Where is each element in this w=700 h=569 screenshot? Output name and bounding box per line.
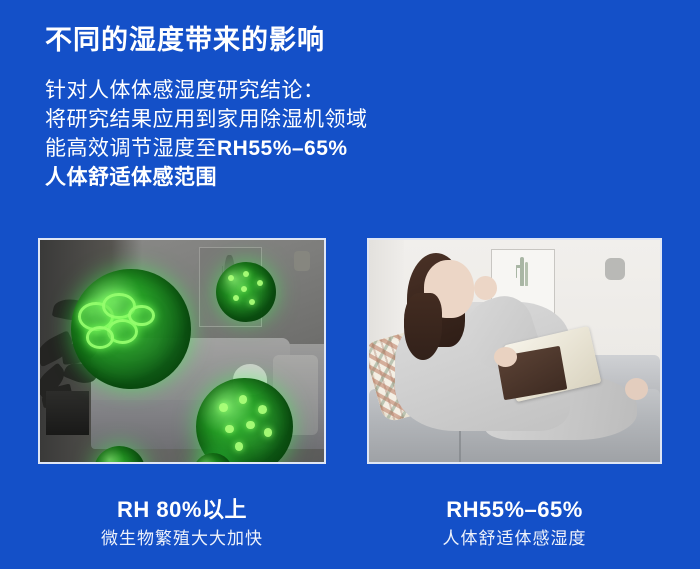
microbe-spike [225, 425, 234, 434]
microbe-spike [233, 295, 239, 301]
caption-left: RH 80%以上 微生物繁殖大大加快 [38, 496, 326, 552]
wall-speaker-icon [605, 258, 625, 280]
photo-microbes [38, 238, 326, 464]
wall-speaker-icon [294, 251, 310, 271]
infographic-page: 不同的湿度带来的影响 针对人体体感湿度研究结论： 将研究结果应用到家用除湿机领域… [0, 0, 700, 569]
person-hand [494, 347, 517, 367]
cactus-illustration [525, 262, 528, 286]
cactus-illustration [520, 257, 524, 287]
person-foot [625, 378, 648, 400]
intro-line-3: 能高效调节湿度至RH55%–65% [45, 134, 368, 163]
microbe-cell [86, 326, 115, 349]
microbe-cluster-small [216, 262, 276, 322]
intro-line-1: 针对人体体感湿度研究结论： [45, 76, 368, 105]
person-hand [474, 276, 497, 300]
caption-left-headline: RH 80%以上 [38, 496, 326, 524]
intro-paragraph: 针对人体体感湿度研究结论： 将研究结果应用到家用除湿机领域 能高效调节湿度至RH… [45, 76, 368, 192]
person-hair-strand [404, 293, 442, 360]
microbe-spike [257, 280, 263, 286]
microbe-core [196, 378, 293, 464]
intro-line-3-regular: 能高效调节湿度至 [45, 137, 217, 160]
caption-right-headline: RH55%–65% [367, 496, 662, 524]
scene-bright-livingroom [369, 240, 660, 462]
microbe-spike [243, 271, 249, 277]
intro-line-2: 将研究结果应用到家用除湿机领域 [45, 105, 368, 134]
caption-left-subtitle: 微生物繁殖大大加快 [38, 526, 326, 552]
microbe-cluster-medium [196, 378, 293, 464]
page-title: 不同的湿度带来的影响 [45, 18, 325, 57]
plant-pot [46, 391, 89, 435]
photo-woman-reading [367, 238, 662, 464]
intro-line-4: 人体舒适体感范围 [45, 163, 368, 192]
microbe-cluster-large [71, 269, 190, 389]
microbe-spike [219, 403, 228, 412]
caption-right-subtitle: 人体舒适体感湿度 [367, 526, 662, 552]
scene-dim-livingroom [40, 240, 324, 462]
caption-right: RH55%–65% 人体舒适体感湿度 [367, 496, 662, 552]
intro-line-3-highlight: RH55%–65% [217, 137, 348, 160]
microbe-spike [258, 405, 267, 414]
microbe-cell [128, 305, 154, 327]
